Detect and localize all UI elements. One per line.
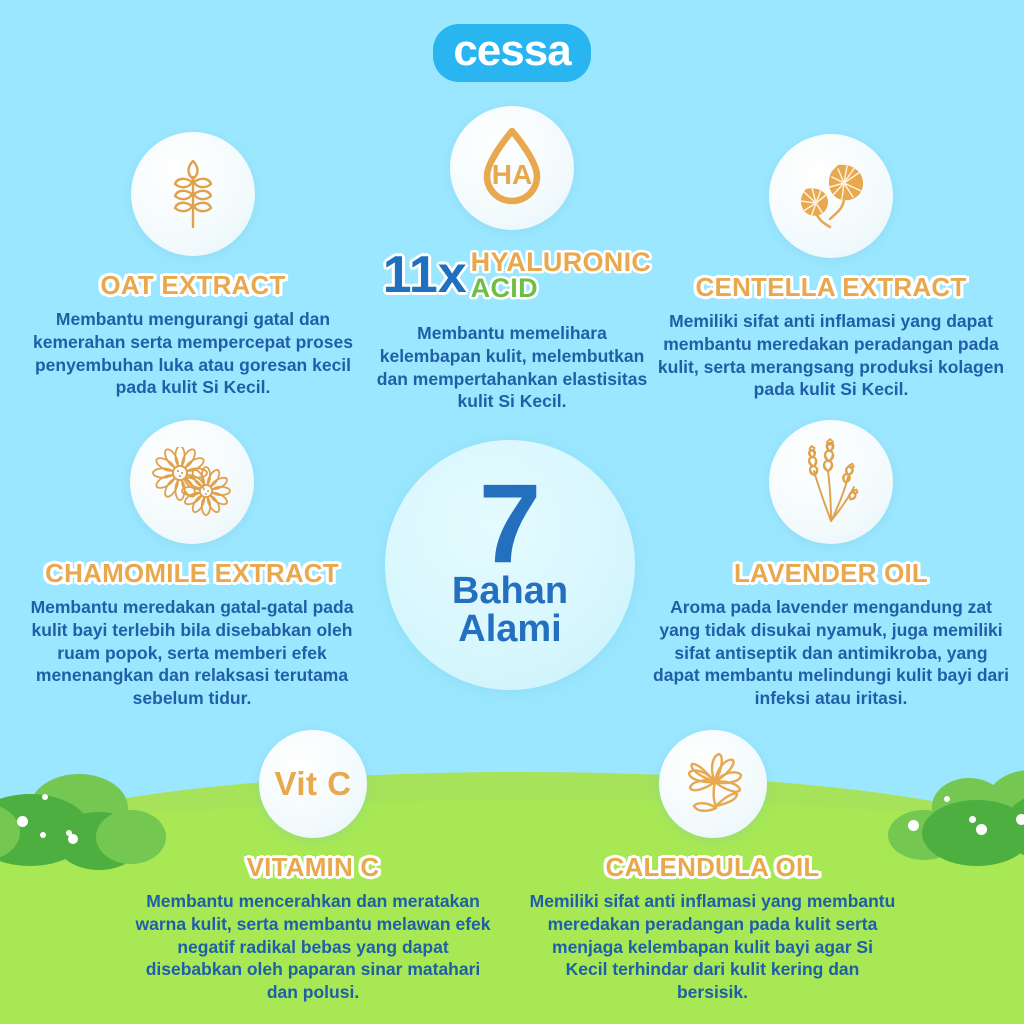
ha-word-acid: ACID [471, 275, 652, 301]
oat-icon-circle [131, 132, 255, 256]
ingredient-calendula-oil: CALENDULA OIL Memiliki sifat anti inflam… [525, 730, 900, 1004]
centella-title: CENTELLA EXTRACT [655, 272, 1007, 303]
centella-description: Memiliki sifat anti inflamasi yang dapat… [655, 310, 1007, 401]
calendula-title: CALENDULA OIL [525, 852, 900, 883]
ha-icon-circle: HA [450, 106, 574, 230]
svg-text:HA: HA [492, 159, 532, 190]
brand-logo-text: cessa [433, 24, 590, 82]
ingredient-hyaluronic-acid: HA [357, 106, 667, 230]
ingredient-lavender-oil: LAVENDER OIL Aroma pada lavender mengand… [648, 420, 1014, 710]
oat-description: Membantu mengurangi gatal dan kemerahan … [18, 308, 368, 399]
ingredient-centella-extract: CENTELLA EXTRACT Memiliki sifat anti inf… [655, 134, 1007, 401]
hub-number: 7 [479, 476, 541, 572]
calendula-flower-icon [675, 748, 751, 820]
ingredient-vitamin-c: Vit C VITAMIN C Membantu mencerahkan dan… [128, 730, 498, 1004]
infographic-canvas: cessa OAT EXTRACT Membantu mengurangi ga… [0, 0, 1024, 1024]
ingredient-chamomile-extract: CHAMOMILE EXTRACT Membantu meredakan gat… [12, 420, 372, 710]
hub-line-1: Bahan [452, 572, 568, 610]
oat-title: OAT EXTRACT [18, 270, 368, 301]
brand-logo: cessa [0, 24, 1024, 82]
wheat-icon [161, 157, 225, 231]
vitamin-c-description: Membantu mencerahkan dan meratakan warna… [128, 890, 498, 1004]
calendula-icon-circle [659, 730, 767, 838]
lavender-sprig-icon [792, 437, 870, 527]
ha-words: HYALURONIC ACID [471, 249, 652, 302]
lavender-description: Aroma pada lavender mengandung zat yang … [648, 596, 1014, 710]
center-hub: 7 Bahan Alami [385, 440, 635, 690]
water-droplet-ha-icon: HA [475, 126, 549, 210]
hyaluronic-description: Membantu memelihara kelembapan kulit, me… [372, 322, 652, 413]
hyaluronic-headline: 11x HYALURONIC ACID [352, 240, 682, 310]
vitamin-c-icon-circle: Vit C [259, 730, 367, 838]
chamomile-description: Membantu meredakan gatal-gatal pada kuli… [12, 596, 372, 710]
hub-line-2: Alami [458, 610, 561, 648]
centella-icon-circle [769, 134, 893, 258]
ha-multiplier: 11x [383, 249, 467, 301]
ha-word-hyaluronic: HYALURONIC [471, 249, 652, 275]
bush-cluster-right [900, 768, 1024, 878]
centella-leaf-icon [792, 157, 870, 235]
ingredient-oat-extract: OAT EXTRACT Membantu mengurangi gatal da… [18, 132, 368, 399]
chamomile-flower-icon [152, 447, 232, 517]
lavender-title: LAVENDER OIL [648, 558, 1014, 589]
chamomile-title: CHAMOMILE EXTRACT [12, 558, 372, 589]
calendula-description: Memiliki sifat anti inflamasi yang memba… [525, 890, 900, 1004]
chamomile-icon-circle [130, 420, 254, 544]
lavender-icon-circle [769, 420, 893, 544]
vitamin-c-text-icon: Vit C [274, 765, 351, 803]
vitamin-c-title: VITAMIN C [128, 852, 498, 883]
